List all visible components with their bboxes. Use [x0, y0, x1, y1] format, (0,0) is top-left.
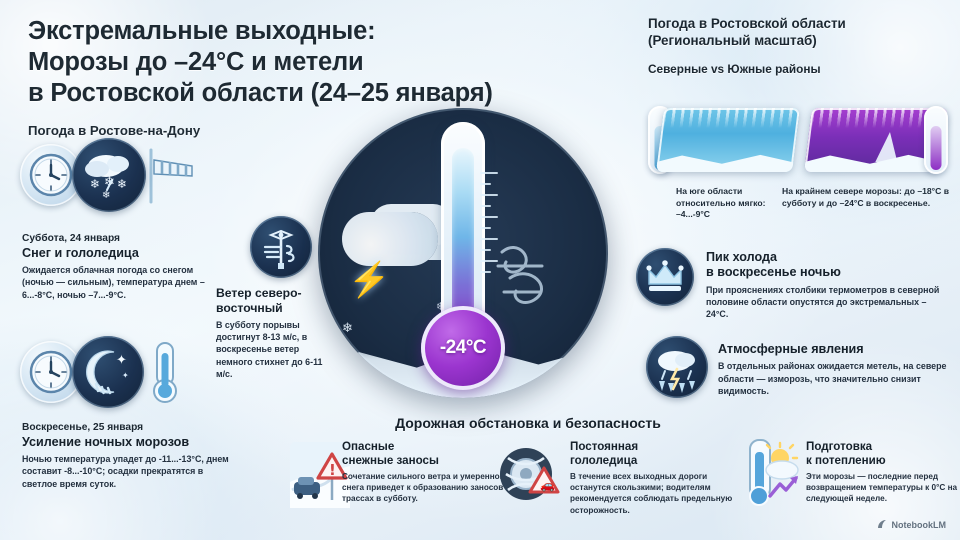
snow-cloud-icon: ❄ ❄ ❄ ❄	[72, 138, 146, 212]
road-column-warming: Подготовка к потеплению Эти морозы — пос…	[806, 440, 958, 505]
svg-text:✦: ✦	[116, 353, 127, 368]
icy-moon-icon: ✦ ✦	[72, 336, 144, 408]
peak-cold-block: Пик холода в воскресенье ночью При прояс…	[706, 250, 944, 321]
snowflake-icon: ❄	[342, 320, 353, 336]
saturday-date-label: Суббота, 24 января	[22, 233, 222, 246]
storm-cloud-icon	[342, 212, 438, 266]
svg-text:✦: ✦	[122, 371, 129, 380]
ice-headline-line-2: гололедица	[570, 454, 750, 468]
atmospheric-description: В отдельных районах ожидается метель, на…	[718, 360, 954, 397]
snowdrifts-description: Сочетание сильного ветра и умеренного сн…	[342, 471, 522, 505]
lightning-icon: ⚡	[348, 260, 390, 300]
warming-headline-line-1: Подготовка	[806, 440, 958, 454]
svg-text:❄: ❄	[102, 190, 110, 201]
peak-cold-headline: Пик холода в воскресенье ночью	[706, 250, 944, 281]
regional-header: Погода в Ростовской области (Региональны…	[648, 16, 948, 76]
sunday-description: Ночью температура упадет до -11...-13°C,…	[22, 453, 234, 490]
title-line-3: в Ростовской области (24–25 января)	[28, 78, 648, 109]
south-region-panel	[656, 108, 800, 172]
svg-text:🚗: 🚗	[540, 478, 555, 492]
peak-cold-description: При прояснениях столбики термометров в с…	[706, 284, 944, 321]
header-subtitle: Погода в Ростове-на-Дону	[28, 123, 648, 138]
road-section-title: Дорожная обстановка и безопасность	[318, 415, 738, 431]
warming-headline: Подготовка к потеплению	[806, 440, 958, 468]
title-line-1: Экстремальные выходные:	[28, 16, 648, 47]
warming-headline-line-2: к потеплению	[806, 454, 958, 468]
ice-crown-icon	[636, 248, 694, 306]
svg-text:!: !	[329, 461, 336, 479]
ice-headline-line-1: Постоянная	[570, 440, 750, 454]
wind-swirl-icon	[496, 226, 592, 312]
snowdrifts-headline: Опасные снежные заносы	[342, 440, 522, 468]
ice-description: В течение всех выходных дороги останутся…	[570, 471, 750, 516]
infographic-canvas: Экстремальные выходные: Морозы до –24°C …	[0, 0, 960, 540]
snowy-road-warning-icon: !	[290, 438, 350, 512]
storm-icicles-icon	[646, 336, 708, 398]
snowdrifts-headline-line-2: снежные заносы	[342, 454, 522, 468]
page-title: Экстремальные выходные: Морозы до –24°C …	[28, 16, 648, 109]
watermark: NotebookLM	[877, 519, 947, 530]
road-column-snowdrifts: Опасные снежные заносы Сочетание сильног…	[342, 440, 522, 505]
regional-subtitle: Северные vs Южные районы	[648, 62, 948, 76]
title-line-2: Морозы до –24°C и метели	[28, 47, 648, 78]
central-weather-scene: ⚡ ❄ ❄ ❄ -24°C	[318, 108, 608, 398]
warming-description: Эти морозы — последние перед возвращение…	[806, 471, 958, 505]
south-caption: На юге области относительно мягко: –4...…	[676, 186, 772, 221]
snow-drift-shape	[656, 144, 800, 172]
saturday-icon-group: ❄ ❄ ❄ ❄	[20, 138, 198, 212]
main-thermometer: -24°C	[426, 122, 500, 390]
north-thermometer-icon	[924, 106, 948, 174]
sunday-headline: Усиление ночных морозов	[22, 435, 234, 450]
watermark-label: NotebookLM	[892, 520, 947, 530]
saturday-description: Ожидается облачная погода со снегом (ноч…	[22, 264, 222, 301]
saturday-info-block: Суббота, 24 января Снег и гололедица Ожи…	[22, 233, 222, 301]
svg-text:❄: ❄	[104, 175, 115, 190]
sun-cloud-warming-icon	[736, 438, 802, 512]
peak-cold-headline-line-1: Пик холода	[706, 250, 944, 265]
saturday-headline: Снег и гололедица	[22, 246, 222, 261]
regional-title-line-2: (Региональный масштаб)	[648, 33, 948, 50]
wind-headline-line-1: Ветер северо-	[216, 286, 332, 301]
atmospheric-block: Атмосферные явления В отдельных районах …	[718, 342, 954, 397]
north-caption: На крайнем севере морозы: до –18°C в суб…	[782, 186, 952, 209]
windsock-icon	[142, 144, 198, 206]
thermometer-bulb: -24°C	[421, 306, 505, 390]
sunday-info-block: Воскресенье, 25 января Усиление ночных м…	[22, 422, 234, 490]
ice-headline: Постоянная гололедица	[570, 440, 750, 468]
svg-text:❄: ❄	[90, 177, 100, 191]
regional-title-line-1: Погода в Ростовской области	[648, 16, 948, 33]
snowdrifts-headline-line-1: Опасные	[342, 440, 522, 454]
thermometer-scale-icon	[480, 172, 502, 292]
weather-vane-icon	[250, 216, 312, 278]
sunday-icon-group: ✦ ✦	[20, 336, 186, 408]
atmospheric-headline: Атмосферные явления	[718, 342, 954, 357]
icicle-texture-icon	[661, 108, 799, 128]
thermometer-icon	[144, 339, 186, 405]
main-header: Экстремальные выходные: Морозы до –24°C …	[28, 16, 648, 138]
wind-headline-line-2: восточный	[216, 301, 332, 316]
road-column-ice: Постоянная гололедица В течение всех вых…	[570, 440, 750, 516]
sunday-date-label: Воскресенье, 25 января	[22, 422, 234, 435]
notebooklm-icon	[877, 519, 888, 530]
peak-cold-headline-line-2: в воскресенье ночью	[706, 265, 944, 280]
temperature-value: -24°C	[440, 337, 486, 359]
svg-text:❄: ❄	[117, 177, 127, 191]
north-south-comparison-panel	[648, 104, 948, 176]
wind-info-block: Ветер северо- восточный В субботу порывы…	[216, 286, 332, 380]
tire-chains-icon: 🚗	[498, 438, 560, 512]
wind-headline: Ветер северо- восточный	[216, 286, 332, 316]
wind-description: В субботу порывы достигнут 8-13 м/с, в в…	[216, 319, 332, 380]
